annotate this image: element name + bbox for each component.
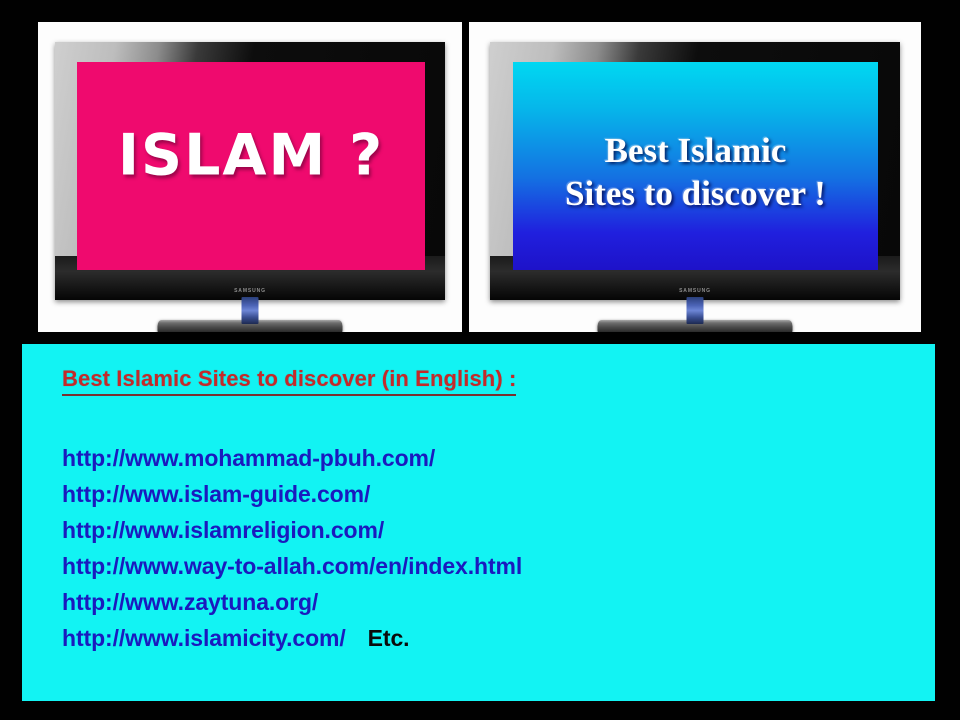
etc-label: Etc. [368,625,410,651]
url-list-item[interactable]: http://www.way-to-allah.com/en/index.htm… [62,548,522,584]
tv-screen-left: ISLAM ? [77,62,425,270]
url-link[interactable]: http://www.zaytuna.org/ [62,589,318,615]
right-screen-headline-line1: Best Islamic [513,129,878,173]
url-link[interactable]: http://www.mohammad-pbuh.com/ [62,445,435,471]
url-list-item[interactable]: http://www.islamreligion.com/ [62,512,522,548]
television-right: Best Islamic Sites to discover ! SAMSUNG [490,42,900,300]
slide-canvas: ISLAM ? SAMSUNG Best Islamic Sites to di… [0,0,960,720]
television-left: ISLAM ? SAMSUNG [55,42,445,300]
samsung-logo-left: SAMSUNG [234,288,266,294]
tv-screen-right: Best Islamic Sites to discover ! [513,62,878,270]
right-screen-headline: Best Islamic Sites to discover ! [513,129,878,217]
url-list-item[interactable]: http://www.zaytuna.org/ [62,584,522,620]
url-link[interactable]: http://www.islamreligion.com/ [62,517,384,543]
url-link[interactable]: http://www.islam-guide.com/ [62,481,370,507]
url-list-item[interactable]: http://www.mohammad-pbuh.com/ [62,440,522,476]
right-screen-headline-line2: Sites to discover ! [513,172,878,216]
url-list-item[interactable]: http://www.islamicity.com/Etc. [62,620,522,656]
url-link[interactable]: http://www.way-to-allah.com/en/index.htm… [62,553,522,579]
left-screen-headline: ISLAM ? [77,127,425,187]
tv-stand-neck-right [687,297,704,324]
url-list: http://www.mohammad-pbuh.com/http://www.… [62,440,522,656]
left-tv-panel: ISLAM ? SAMSUNG [38,22,462,332]
samsung-logo-right: SAMSUNG [679,288,711,294]
list-heading: Best Islamic Sites to discover (in Engli… [62,366,516,396]
right-tv-panel: Best Islamic Sites to discover ! SAMSUNG [469,22,921,332]
link-list-panel: Best Islamic Sites to discover (in Engli… [22,344,935,701]
url-link[interactable]: http://www.islamicity.com/ [62,625,346,651]
url-list-item[interactable]: http://www.islam-guide.com/ [62,476,522,512]
panel-divider [462,20,469,336]
tv-stand-neck-left [242,297,259,324]
